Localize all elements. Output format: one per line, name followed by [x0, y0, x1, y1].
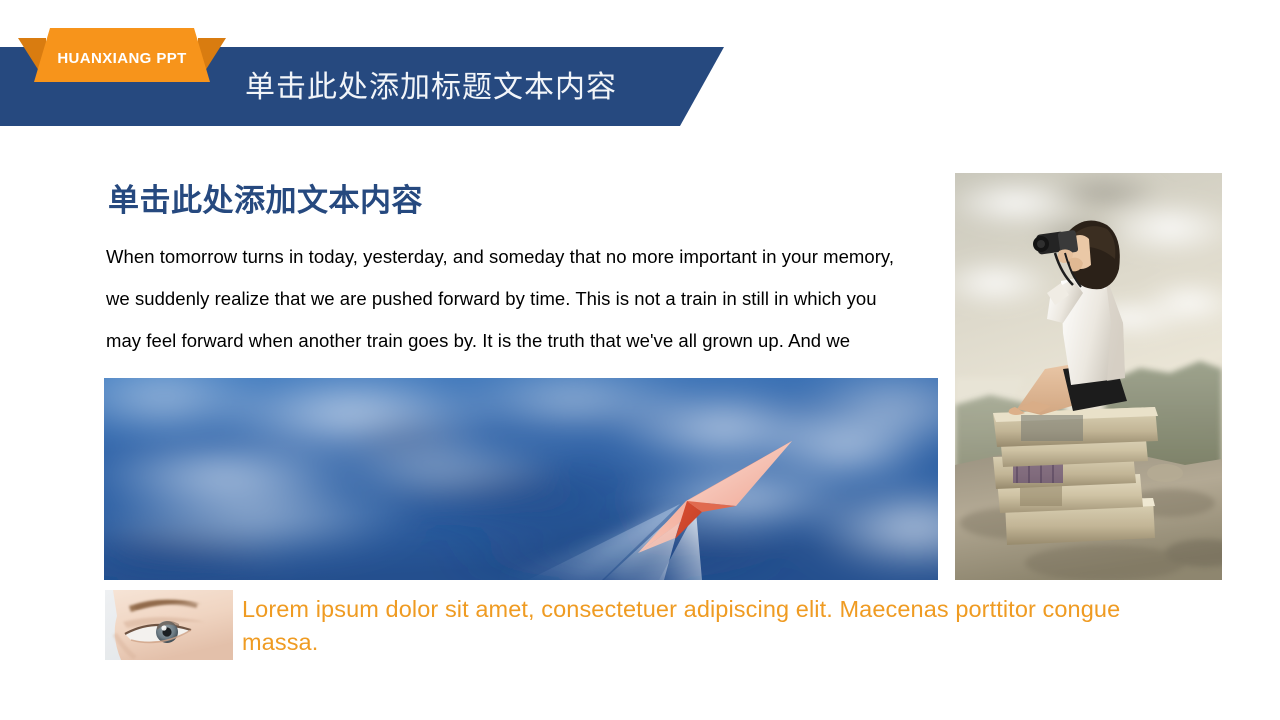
- brand-ribbon: HUANXIANG PPT: [18, 28, 226, 82]
- body-paragraph: When tomorrow turns in today, yesterday,…: [106, 236, 916, 362]
- section-heading: 单击此处添加文本内容: [108, 175, 423, 220]
- eye-closeup-graphic: [105, 590, 233, 660]
- woman-on-books-photo: [955, 173, 1222, 580]
- header-title: 单击此处添加标题文本内容: [245, 66, 705, 112]
- caption-text: Lorem ipsum dolor sit amet, consectetuer…: [242, 593, 1182, 659]
- woman-on-books-graphic: [955, 173, 1222, 580]
- brand-ribbon-label: HUANXIANG PPT: [18, 28, 226, 82]
- slide-canvas: 单击此处添加标题文本内容 HUANXIANG PPT 单击此处添加文本内容 Wh…: [0, 0, 1280, 720]
- eye-closeup-thumbnail: [105, 590, 233, 660]
- paper-plane-sky-photo: [104, 378, 938, 580]
- paper-plane-sky-graphic: [104, 378, 938, 580]
